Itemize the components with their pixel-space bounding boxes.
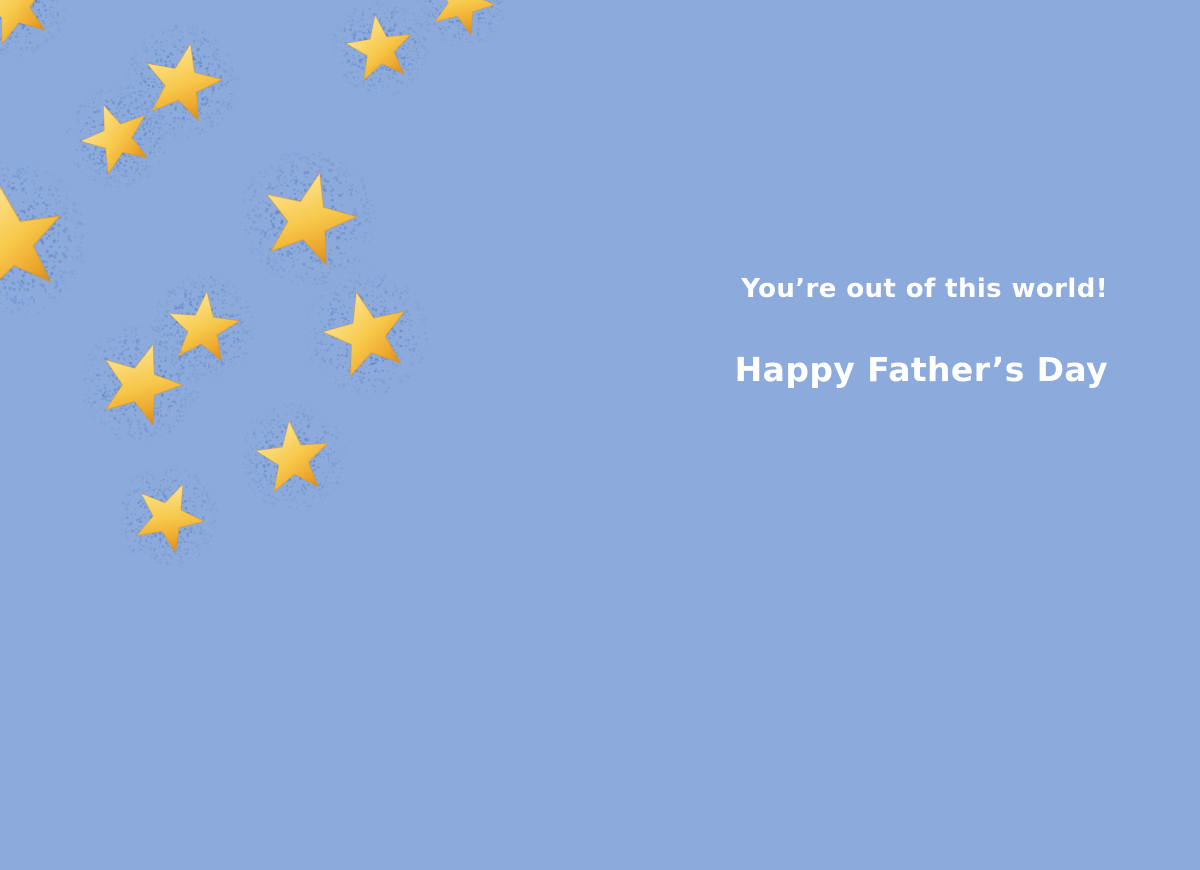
star-icon [163, 287, 244, 368]
star-upper-mid [302, 0, 458, 126]
star-field-decoration [0, 0, 1200, 870]
star-center-big [198, 108, 418, 328]
star-icon [138, 38, 226, 126]
greeting-subline: Happy Father’s Day [735, 349, 1108, 391]
star-mid-right [267, 233, 467, 433]
star-mid-left [119, 243, 287, 411]
star-halo-speckle [86, 434, 250, 598]
star-edge-large [0, 112, 138, 368]
greeting-text-block: You’re out of this world! Happy Father’s… [735, 272, 1108, 391]
star-lower-mid [207, 371, 379, 543]
greeting-headline: You’re out of this world! [735, 272, 1108, 306]
star-icon [0, 179, 71, 302]
star-top-faded [388, 0, 536, 76]
star-icon [255, 165, 361, 271]
star-lower-left [44, 287, 236, 479]
star-halo-speckle [207, 371, 379, 543]
star-icon [426, 0, 497, 38]
star-halo-speckle [119, 243, 287, 411]
star-halo-speckle [267, 233, 467, 433]
star-icon [78, 98, 157, 177]
star-halo-speckle [388, 0, 536, 76]
star-icon [319, 285, 415, 381]
star-icon [343, 11, 418, 86]
star-icon [129, 477, 208, 556]
star-halo-speckle [0, 112, 138, 368]
star-bottom-left [86, 434, 250, 598]
greeting-card-canvas: You’re out of this world! Happy Father’s… [0, 0, 1200, 870]
star-halo-speckle [35, 55, 199, 219]
star-halo-speckle [0, 0, 100, 92]
star-icon [252, 416, 335, 499]
star-upper-left-a [90, 0, 274, 174]
star-corner-topleft [0, 0, 100, 92]
star-halo-speckle [302, 0, 458, 126]
star-icon [94, 337, 186, 429]
star-halo-speckle [44, 287, 236, 479]
star-halo-speckle [198, 108, 418, 328]
star-icon [0, 0, 55, 47]
star-halo-speckle [90, 0, 274, 174]
star-left-b [35, 55, 199, 219]
